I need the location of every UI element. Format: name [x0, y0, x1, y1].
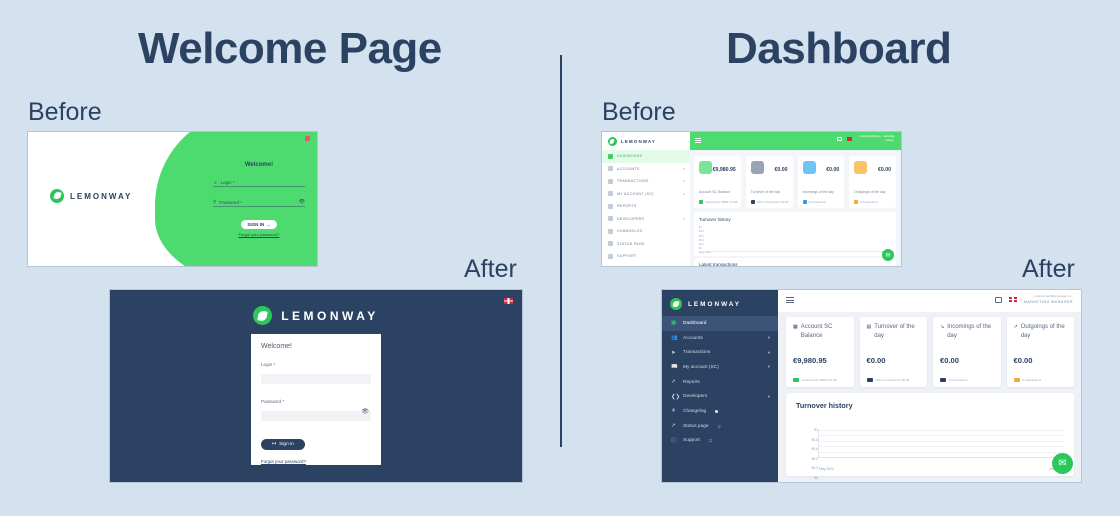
- lemonway-leaf-logo: [50, 189, 64, 203]
- kpi-value: €0.00: [775, 167, 788, 173]
- grid-icon: ▦: [671, 320, 677, 326]
- status-chip: [1014, 378, 1020, 383]
- chevron-down-icon: ▾: [768, 394, 770, 400]
- sidebar-item-reports[interactable]: ↗ Reports: [662, 375, 778, 390]
- chevron-down-icon: ▾: [683, 179, 685, 183]
- kpi-value: €0.00: [826, 167, 839, 173]
- external-link-icon: ⎋: [718, 424, 721, 429]
- eye-off-icon[interactable]: 👁: [361, 409, 369, 415]
- kpi-value: €0.00: [1014, 356, 1033, 365]
- forgot-password-link-before[interactable]: Forgot your password?: [213, 232, 305, 237]
- lemonway-leaf-logo: [608, 137, 617, 146]
- kpi-title-row: ▦ Account SC Balance: [793, 323, 847, 341]
- sidebar-item-support[interactable]: ⓘ Support ⎋: [662, 434, 778, 449]
- sidebar-item-label: DEVELOPERS: [617, 217, 644, 221]
- menu-icon[interactable]: [786, 297, 794, 305]
- y-tick: €0.4: [794, 455, 818, 465]
- chat-icon[interactable]: ✉: [882, 249, 894, 261]
- topbar-right-group: m.leboucher@lemonway.co... MARKETING MAN…: [995, 294, 1073, 305]
- brand-name: LEMONWAY: [70, 192, 132, 201]
- kpi-subtitle: 0 transactions: [949, 378, 968, 382]
- chart-icon: [608, 204, 613, 209]
- brand-logo-dashboard-after: LEMONWAY: [670, 298, 741, 310]
- sidebar-item-label: MY ACCOUNT (SC): [617, 192, 654, 196]
- clock-icon: [608, 229, 613, 234]
- status-chip: [854, 200, 858, 204]
- status-chip: [867, 378, 873, 383]
- chart-y-axis: €1 €0.8 €0.6 €0.4 €0.2 €0: [794, 426, 818, 482]
- password-label: Password *: [261, 399, 371, 404]
- signin-button-after[interactable]: ↦ Sign in: [261, 439, 305, 450]
- kpi-value: €0.00: [867, 356, 886, 365]
- chart-x-left: May 2022: [699, 251, 710, 254]
- wallet-icon: [699, 161, 712, 174]
- activity-icon: [608, 241, 613, 246]
- sidebar-item-dashboard[interactable]: DASHBOARD: [602, 150, 690, 163]
- y-tick: €0: [794, 474, 818, 482]
- sidebar-item-label: Accounts: [683, 336, 703, 341]
- user-menu[interactable]: m.leboucher@lemonway.co... MARKETING MAN…: [1024, 294, 1073, 305]
- kpi-title-row: ↘ Incomings of the day: [940, 323, 994, 341]
- sidebar-item-label: TRANSACTIONS: [617, 179, 649, 183]
- code-icon: ❮❯: [671, 394, 677, 400]
- arrow-down-right-icon: ↘: [940, 323, 944, 341]
- clock-icon: ☀: [671, 408, 677, 414]
- help-icon: [608, 254, 613, 259]
- kpi-subtitle-row: 0 transactions: [1014, 378, 1069, 383]
- kpi-value: €0.00: [878, 167, 891, 173]
- sidebar-item-accounts[interactable]: ACCOUNTS ▾: [602, 163, 690, 176]
- turnover-history-card-before: Turnover history €1 €0.8 €0.6 €0.4 €0.2 …: [694, 212, 896, 256]
- chevron-left-icon[interactable]: ‹: [688, 139, 689, 144]
- kpi-card[interactable]: €0.00 Incomings of the day 0 transaction…: [798, 156, 845, 208]
- sidebar-nav-after: ▦ Dashboard 👥 Accounts ▾ ➤ Transactions …: [662, 316, 778, 448]
- sidebar-item-status-page[interactable]: STATUS PAGE: [602, 238, 690, 251]
- sidebar-item-label: Dashboard: [683, 321, 706, 326]
- external-link-icon: ⎋: [709, 438, 712, 443]
- kpi-subtitle: Cantonment: €856,711.68: [802, 378, 836, 382]
- login-icon: ↦: [272, 442, 276, 447]
- help-icon: ⓘ: [671, 438, 677, 444]
- welcome-heading: Welcome!: [213, 162, 305, 168]
- screenshot-dashboard-after: LEMONWAY ‹ ▦ Dashboard 👥 Accounts ▾ ➤ Tr…: [662, 290, 1081, 482]
- chevron-down-icon: ▾: [683, 192, 685, 196]
- sidebar-item-reports[interactable]: REPORTS: [602, 200, 690, 213]
- page-title-welcome: Welcome Page: [138, 24, 442, 74]
- login-form-before: Welcome! ☺ Login * ⚲ Password * 👁 SIGN I…: [213, 162, 305, 237]
- arrow-right-icon: →: [266, 222, 271, 227]
- sidebar-item-label: SUPPORT: [617, 254, 636, 258]
- chart-x-left: May 2022: [819, 467, 834, 471]
- kpi-subtitle-row: Cantonment: €856,711.68: [793, 378, 848, 383]
- kpi-title: Account SC Balance: [801, 323, 847, 341]
- kpi-subtitle-row: 0 transactions: [854, 200, 877, 204]
- page-title-dashboard: Dashboard: [726, 24, 951, 74]
- screenshot-dashboard-before: m.leboucher@lemo... marketing-manag... L…: [602, 132, 901, 266]
- kpi-subtitle: LW's commissions: €0.00: [876, 378, 910, 382]
- signin-label: SIGN IN: [247, 222, 264, 227]
- brand-name: LEMONWAY: [621, 139, 656, 144]
- chevron-down-icon: ▾: [683, 167, 685, 171]
- y-tick: €0.8: [794, 436, 818, 446]
- chevron-down-icon: ▾: [768, 335, 770, 341]
- sidebar-item-label: My account (SC): [683, 365, 719, 370]
- password-field-before[interactable]: ⚲ Password * 👁: [213, 199, 305, 207]
- sidebar-item-my-account[interactable]: 📖 My account (SC) ▾: [662, 360, 778, 375]
- status-chip: [751, 200, 755, 204]
- grid-icon: [608, 154, 613, 159]
- password-label: Password *: [219, 200, 242, 205]
- sidebar-item-changelog[interactable]: ☀ Changelog: [662, 404, 778, 419]
- turnover-history-card-after: Turnover history €1 €0.8 €0.6 €0.4 €0.2 …: [786, 393, 1074, 476]
- welcome-heading: Welcome!: [261, 343, 371, 350]
- sidebar-item-label: STATUS PAGE: [617, 242, 645, 246]
- brand-logo-welcome-after: LEMONWAY: [110, 306, 522, 325]
- kpi-title: Turnover of the day: [751, 190, 780, 194]
- user-role: MARKETING MANAGER: [1024, 300, 1073, 306]
- send-icon: [608, 179, 613, 184]
- kpi-subtitle: 0 transactions: [1023, 378, 1042, 382]
- send-icon: ➤: [671, 350, 677, 356]
- arrow-up-right-icon: [854, 161, 867, 174]
- password-input[interactable]: [261, 411, 371, 421]
- chevron-down-icon: ▾: [768, 350, 770, 356]
- sidebar-item-label: REPORTS: [617, 204, 636, 208]
- sidebar-item-status-page[interactable]: ↗ Status page ⎋: [662, 419, 778, 434]
- sidebar-item-changelog[interactable]: CHANGELOG: [602, 225, 690, 238]
- uk-flag-icon[interactable]: [847, 137, 852, 141]
- chevron-down-icon: ▾: [683, 217, 685, 221]
- sidebar-item-accounts[interactable]: 👥 Accounts ▾: [662, 331, 778, 346]
- sidebar-item-label: Transactions: [683, 350, 710, 355]
- users-icon: 👥: [671, 335, 677, 341]
- brand-name: LEMONWAY: [281, 309, 379, 323]
- chevron-down-icon: ▾: [768, 364, 770, 370]
- kpi-subtitle: Cantonment: €856,711.68: [705, 200, 737, 204]
- kpi-subtitle-row: LW's commissions: €0.00: [751, 200, 788, 204]
- kpi-value: €9,980.95: [793, 356, 827, 365]
- kpi-card[interactable]: ▦ Account SC Balance €9,980.95 Cantonmen…: [786, 317, 854, 387]
- signin-button-before[interactable]: SIGN IN →: [241, 220, 277, 229]
- eye-off-icon[interactable]: 👁: [299, 199, 305, 205]
- kpi-subtitle-row: Cantonment: €856,711.68: [699, 200, 737, 204]
- sidebar-item-label: Support: [683, 438, 700, 443]
- sidebar-item-label: Reports: [683, 380, 700, 385]
- chart-title: Turnover history: [796, 401, 1064, 410]
- sidebar-item-label: Status page: [683, 424, 709, 429]
- kpi-title: Incomings of the day: [947, 323, 993, 341]
- wallet-icon: ▦: [793, 323, 798, 341]
- monitor-icon[interactable]: [837, 137, 842, 141]
- users-icon: [608, 166, 613, 171]
- y-tick: €0.2: [794, 464, 818, 474]
- latest-transactions-card-before: Latest transactions: [694, 258, 896, 266]
- arrow-down-right-icon: [803, 161, 816, 174]
- status-chip: [803, 200, 807, 204]
- status-chip: [940, 378, 946, 383]
- sidebar-item-label: Changelog: [683, 409, 706, 414]
- kpi-card[interactable]: €0.00 Outgoings of the day 0 transaction…: [849, 156, 896, 208]
- section-divider: [560, 55, 562, 447]
- login-field-group: Login *: [261, 362, 371, 388]
- topbar-after: m.leboucher@lemonway.co... MARKETING MAN…: [778, 290, 1081, 312]
- lock-icon: ⚲: [213, 199, 216, 205]
- kpi-title: Account SC Balance: [699, 190, 730, 194]
- uk-flag-icon[interactable]: [1009, 297, 1017, 303]
- update-badge: [715, 410, 718, 413]
- kpi-cards-before: €9,980.95 Account SC Balance Cantonment:…: [694, 156, 896, 208]
- sidebar-item-developers[interactable]: ❮❯ Developers ▾: [662, 389, 778, 404]
- status-chip: [793, 378, 799, 383]
- sidebar-item-label: ACCOUNTS: [617, 167, 640, 171]
- arrow-up-right-icon: ↗: [1014, 323, 1018, 341]
- brand-logo-welcome-before: LEMONWAY: [50, 189, 132, 203]
- kpi-subtitle-row: 0 transactions: [940, 378, 995, 383]
- kpi-title-row: ▤ Turnover of the day: [867, 323, 921, 341]
- kpi-card[interactable]: €0.00 Turnover of the day LW's commissio…: [746, 156, 793, 208]
- chart-plot-area: [818, 430, 1064, 458]
- kpi-title: Turnover of the day: [874, 323, 920, 341]
- sidebar-item-transactions[interactable]: ➤ Transactions ▾: [662, 345, 778, 360]
- uk-flag-icon[interactable]: [504, 298, 513, 304]
- close-icon[interactable]: [305, 136, 310, 141]
- chart-title: Turnover history: [699, 217, 891, 222]
- sidebar-item-dashboard[interactable]: ▦ Dashboard: [662, 316, 778, 331]
- brand-name: LEMONWAY: [688, 301, 741, 308]
- kpi-value: €0.00: [940, 356, 959, 365]
- label-welcome-after: After: [464, 255, 517, 284]
- topbar-before: m.leboucher@lemo... marketing-manag...: [690, 132, 901, 150]
- kpi-title: Outgoings of the day: [854, 190, 885, 194]
- kpi-title-row: ↗ Outgoings of the day: [1014, 323, 1068, 341]
- kpi-subtitle: LW's commissions: €0.00: [757, 200, 788, 204]
- activity-icon: ↗: [671, 423, 677, 429]
- user-icon: ☺: [213, 180, 218, 185]
- book-icon: 📖: [671, 364, 677, 370]
- kpi-subtitle-row: LW's commissions: €0.00: [867, 378, 922, 383]
- label-welcome-before: Before: [28, 98, 102, 127]
- kpi-cards-after: ▦ Account SC Balance €9,980.95 Cantonmen…: [786, 317, 1074, 387]
- kpi-subtitle-row: 0 transactions: [803, 200, 826, 204]
- kpi-card[interactable]: ↗ Outgoings of the day €0.00 0 transacti…: [1007, 317, 1075, 387]
- label-dashboard-before: Before: [602, 98, 676, 127]
- exchange-icon: [751, 161, 764, 174]
- login-input[interactable]: [261, 374, 371, 384]
- sidebar-item-transactions[interactable]: TRANSACTIONS ▾: [602, 175, 690, 188]
- y-tick: €0.6: [794, 445, 818, 455]
- screenshot-welcome-after: LEMONWAY Welcome! Login * Password * 👁 ↦…: [110, 290, 522, 482]
- label-dashboard-after: After: [1022, 255, 1075, 284]
- brand-logo-dashboard-before: LEMONWAY ‹: [608, 137, 656, 146]
- chat-icon[interactable]: ✉: [1052, 453, 1073, 474]
- kpi-card[interactable]: ▤ Turnover of the day €0.00 LW's commiss…: [860, 317, 928, 387]
- slide-canvas: Welcome Page Before After Dashboard Befo…: [0, 0, 1120, 516]
- user-info-before[interactable]: m.leboucher@lemo... marketing-manag...: [857, 135, 895, 143]
- login-card-after: Welcome! Login * Password * 👁 ↦ Sign in …: [251, 334, 381, 465]
- status-chip: [699, 200, 703, 204]
- password-field-group: Password * 👁: [261, 399, 371, 425]
- chart-y-axis: €1 €0.8 €0.6 €0.4 €0.2 €0: [699, 226, 704, 252]
- chart-baseline: [710, 251, 892, 252]
- login-field-before[interactable]: ☺ Login *: [213, 180, 305, 187]
- sidebar-item-label: DASHBOARD: [617, 154, 642, 158]
- kpi-card[interactable]: €9,980.95 Account SC Balance Cantonment:…: [694, 156, 741, 208]
- exchange-icon: ▤: [867, 323, 872, 341]
- book-icon: [608, 191, 613, 196]
- kpi-title: Incomings of the day: [803, 190, 834, 194]
- forgot-password-link-after[interactable]: Forgot your password?: [261, 459, 306, 464]
- screenshot-welcome-before: LEMONWAY Welcome! ☺ Login * ⚲ Password *…: [28, 132, 317, 266]
- code-icon: [608, 216, 613, 221]
- lemonway-leaf-logo: [253, 306, 272, 325]
- monitor-icon[interactable]: [995, 297, 1002, 303]
- y-tick: €1: [794, 426, 818, 436]
- login-label: Login *: [221, 180, 235, 185]
- kpi-subtitle: 0 transactions: [860, 200, 877, 204]
- lemonway-leaf-logo: [670, 298, 682, 310]
- sidebar-nav-before: DASHBOARD ACCOUNTS ▾ TRANSACTIONS ▾ MY A…: [602, 150, 690, 263]
- sidebar-item-support[interactable]: SUPPORT: [602, 250, 690, 263]
- signin-label: Sign in: [279, 442, 294, 447]
- kpi-title: Outgoings of the day: [1021, 323, 1067, 341]
- sidebar-item-my-account[interactable]: MY ACCOUNT (SC) ▾: [602, 188, 690, 201]
- sidebar-item-label: CHANGELOG: [617, 229, 643, 233]
- sidebar-item-label: Developers: [683, 394, 707, 399]
- kpi-card[interactable]: ↘ Incomings of the day €0.00 0 transacti…: [933, 317, 1001, 387]
- sidebar-item-developers[interactable]: DEVELOPERS ▾: [602, 213, 690, 226]
- kpi-subtitle: 0 transactions: [809, 200, 826, 204]
- login-label: Login *: [261, 362, 371, 367]
- menu-icon[interactable]: [695, 138, 701, 143]
- kpi-value: €9,980.95: [713, 167, 736, 173]
- chart-icon: ↗: [671, 379, 677, 385]
